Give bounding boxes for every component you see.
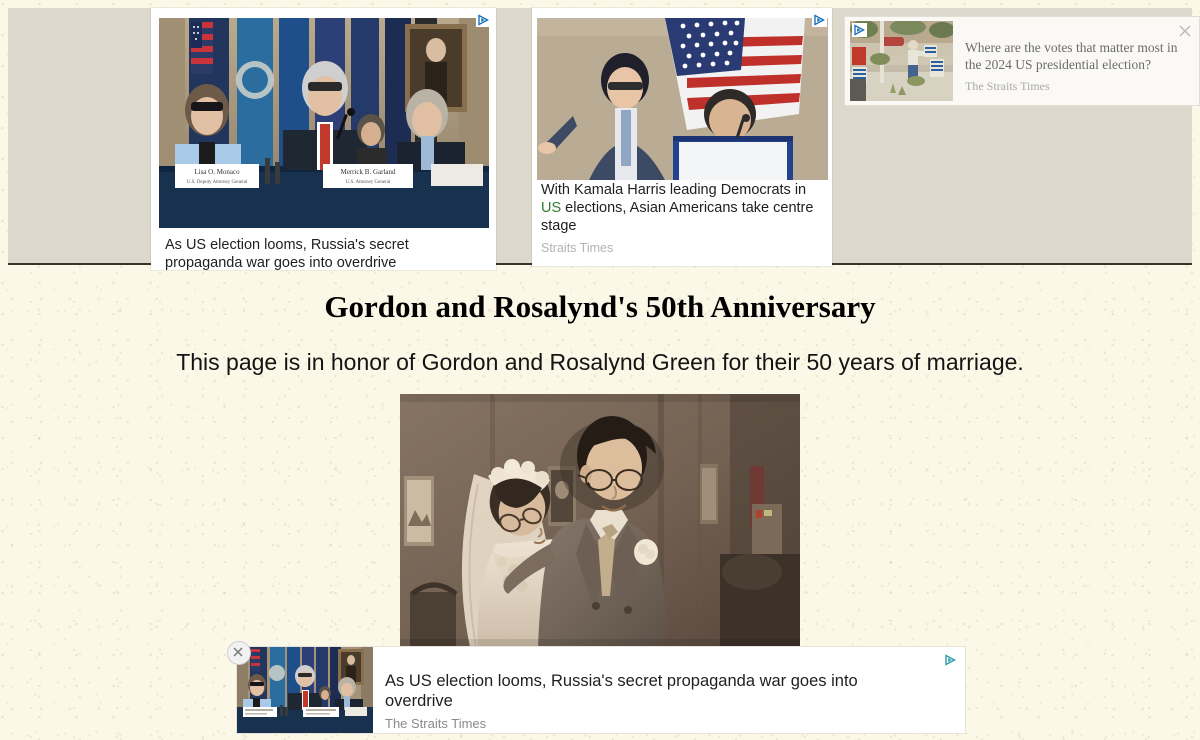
svg-text:U.S. Deputy Attorney General: U.S. Deputy Attorney General <box>187 180 248 185</box>
adchoices-icon[interactable] <box>476 13 491 27</box>
press-conference-illustration: Lisa O. Monaco U.S. Deputy Attorney Gene… <box>159 18 489 228</box>
ad-image-podium-flag[interactable] <box>537 18 828 180</box>
main-content: Gordon and Rosalynd's 50th Anniversary T… <box>0 267 1200 376</box>
ad-card-asian-americans[interactable]: With Kamala Harris leading Democrats in … <box>532 8 832 266</box>
wedding-photo <box>400 394 800 647</box>
page-subtitle: This page is in honor of Gordon and Rosa… <box>0 325 1200 376</box>
podium-flag-illustration <box>537 18 828 180</box>
adchoices-icon[interactable] <box>943 653 958 667</box>
adchoices-icon[interactable] <box>812 13 827 27</box>
ad-headline[interactable]: With Kamala Harris leading Democrats in … <box>541 181 823 235</box>
top-ad-bar: Lisa O. Monaco U.S. Deputy Attorney Gene… <box>8 8 1192 265</box>
press-conference-thumb-illustration <box>237 647 373 733</box>
ad-image-campaign-signs[interactable] <box>850 21 953 101</box>
page-title: Gordon and Rosalynd's 50th Anniversary <box>0 267 1200 325</box>
ad-source: The Straits Times <box>965 79 1180 94</box>
adchoices-icon[interactable] <box>852 23 867 37</box>
svg-text:Lisa O. Monaco: Lisa O. Monaco <box>194 168 240 176</box>
ad-card-votes-that-matter[interactable]: Where are the votes that matter most in … <box>844 16 1200 106</box>
svg-text:Merrick B. Garland: Merrick B. Garland <box>340 168 396 176</box>
ad-headline[interactable]: Where are the votes that matter most in … <box>965 39 1180 73</box>
ad-card-election-propaganda[interactable]: Lisa O. Monaco U.S. Deputy Attorney Gene… <box>151 8 496 270</box>
ad-headline-highlight: US <box>541 200 561 216</box>
ad-source: Straits Times <box>541 241 823 255</box>
ad-headline[interactable]: As US election looms, Russia's secret pr… <box>151 230 496 270</box>
ad-headline-part-1: With Kamala Harris leading Democrats in <box>541 182 806 198</box>
svg-text:U.S. Attorney General: U.S. Attorney General <box>346 180 391 185</box>
close-icon[interactable] <box>1177 23 1193 39</box>
ad-text-block: Where are the votes that matter most in … <box>965 39 1180 94</box>
bottom-ad-banner[interactable]: As US election looms, Russia's secret pr… <box>236 646 966 734</box>
ad-text-block: With Kamala Harris leading Democrats in … <box>532 181 832 255</box>
ad-image-press-conference-thumb[interactable] <box>237 647 373 733</box>
ad-source: The Straits Times <box>385 716 925 731</box>
close-icon[interactable] <box>227 641 251 665</box>
ad-text-block: As US election looms, Russia's secret pr… <box>385 671 925 731</box>
ad-image-press-conference[interactable]: Lisa O. Monaco U.S. Deputy Attorney Gene… <box>159 18 489 228</box>
wedding-photo-illustration <box>400 394 800 647</box>
ad-headline[interactable]: As US election looms, Russia's secret pr… <box>385 671 925 711</box>
ad-headline-part-2: elections, Asian Americans take centre s… <box>541 200 813 234</box>
